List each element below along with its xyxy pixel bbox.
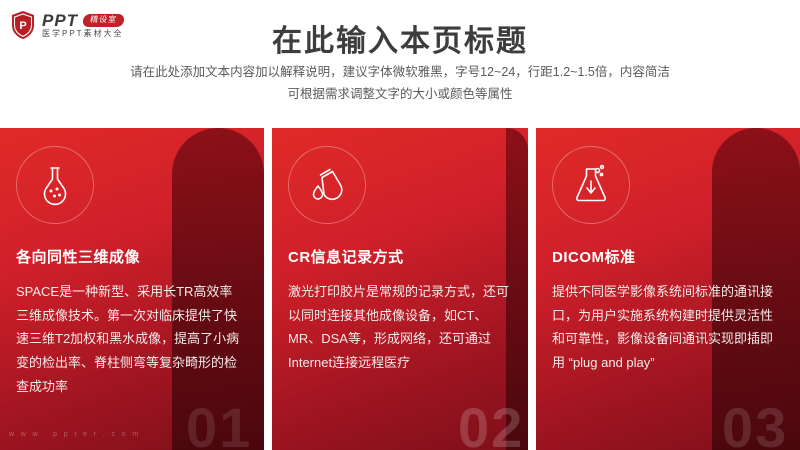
page-title: 在此输入本页标题: [0, 16, 800, 60]
content-panel-1[interactable]: 01 各向同性三维成像 SPACE是一种新型、采用长TR高效率三维成像技术。第一…: [0, 128, 264, 450]
panel-group: 01 各向同性三维成像 SPACE是一种新型、采用长TR高效率三维成像技术。第一…: [0, 128, 800, 450]
test-tube-droplet-icon: [288, 146, 366, 224]
panel-1-body: SPACE是一种新型、采用长TR高效率三维成像技术。第一次对临床提供了快速三维T…: [16, 280, 244, 398]
panel-3-heading: DICOM标准: [552, 246, 784, 267]
panel-2-heading: CR信息记录方式: [288, 246, 512, 267]
panel-2-number: 02: [458, 400, 524, 450]
erlenmeyer-flask-icon: [552, 146, 630, 224]
page-subtitle: 请在此处添加文本内容加以解释说明，建议字体微软雅黑，字号12~24，行距1.2~…: [0, 62, 800, 106]
panel-1-number: 01: [186, 400, 252, 450]
subtitle-line-1: 请在此处添加文本内容加以解释说明，建议字体微软雅黑，字号12~24，行距1.2~…: [0, 62, 800, 84]
panel-3-body: 提供不同医学影像系统间标准的通讯接口，为用户实施系统构建时提供灵活性和可靠性，影…: [552, 280, 780, 375]
panel-2-body: 激光打印胶片是常规的记录方式，还可以同时连接其他成像设备，如CT、MR、DSA等…: [288, 280, 512, 375]
panel-1-heading: 各向同性三维成像: [16, 246, 248, 267]
panel-3-number: 03: [722, 400, 788, 450]
flask-round-icon: [16, 146, 94, 224]
subtitle-line-2: 可根据需求调整文字的大小或颜色等属性: [0, 84, 800, 106]
content-panel-3[interactable]: 03 DICOM标准 提供不同医学影像系统间标准的通讯接口，为用户实施系统构建时…: [536, 128, 800, 450]
content-panel-2[interactable]: 02 CR信息记录方式 激光打印胶片是常规的记录方式，还可以同时连接其他成像设备…: [272, 128, 528, 450]
footer-watermark: w w w . p p t e r . c o m: [9, 431, 141, 438]
